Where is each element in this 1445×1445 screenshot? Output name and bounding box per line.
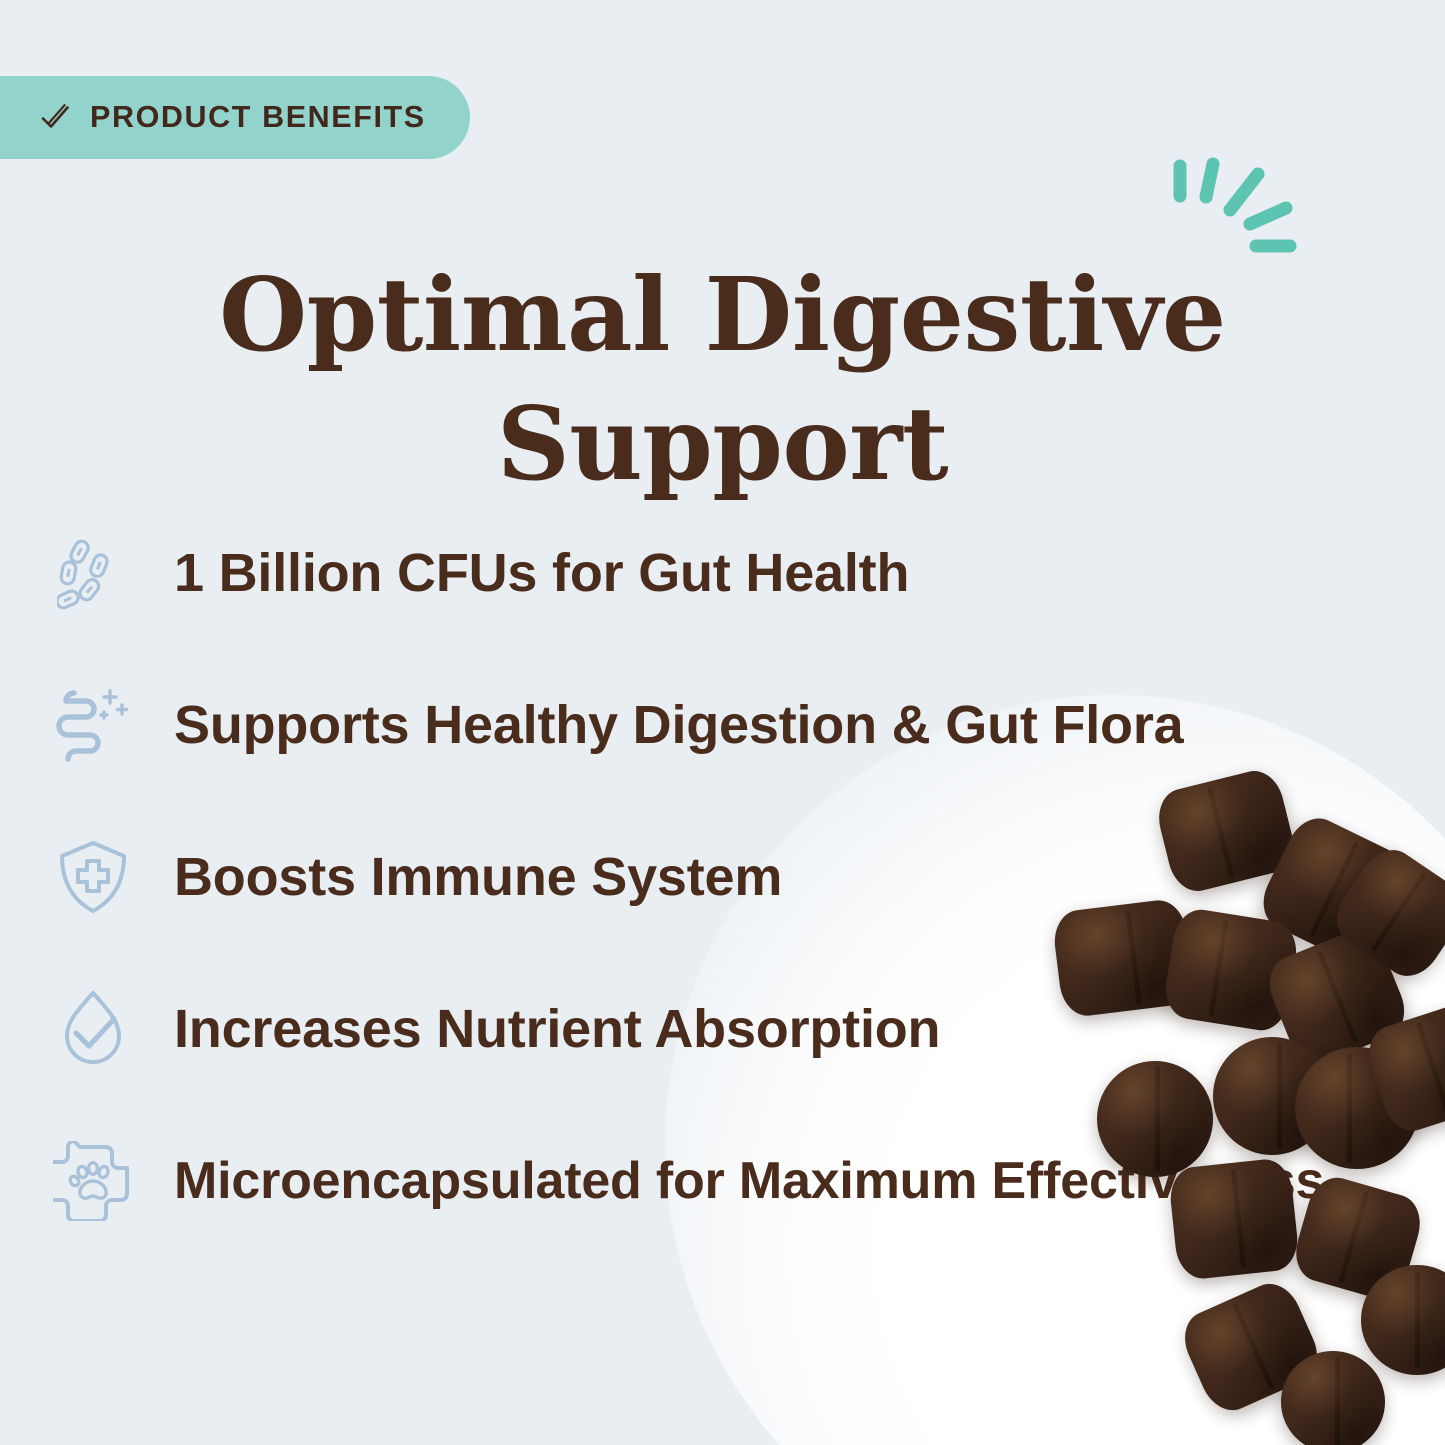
page-title-line-2: Support [110, 379, 1335, 508]
check-icon [38, 101, 72, 135]
benefit-label: 1 Billion CFUs for Gut Health [174, 542, 909, 604]
page-title-line-1: Optimal Digestive [110, 250, 1335, 379]
benefits-list: 1 Billion CFUs for Gut Health [52, 497, 1385, 1257]
benefit-item-digestion: Supports Healthy Digestion & Gut Flora [52, 649, 1385, 801]
page-title: Optimal Digestive Support [0, 250, 1445, 509]
benefit-item-microencapsulated: Microencapsulated for Maximum Effectiven… [52, 1105, 1385, 1257]
badge-label: PRODUCT BENEFITS [90, 100, 426, 135]
cross-paw-icon [52, 1140, 134, 1222]
benefit-item-immune: Boosts Immune System [52, 801, 1385, 953]
product-benefits-infographic: PRODUCT BENEFITS Optimal Digestive Suppo… [0, 0, 1445, 1445]
shield-cross-icon [52, 836, 134, 918]
droplet-check-icon [52, 988, 134, 1070]
intestine-sparkle-icon [52, 684, 134, 766]
benefit-item-cfu: 1 Billion CFUs for Gut Health [52, 497, 1385, 649]
sparkle-burst-icon [1168, 152, 1328, 287]
benefit-label: Microencapsulated for Maximum Effectiven… [174, 1151, 1324, 1211]
probiotic-bacteria-icon [52, 532, 134, 614]
product-benefits-badge: PRODUCT BENEFITS [0, 76, 470, 159]
benefit-item-absorption: Increases Nutrient Absorption [52, 953, 1385, 1105]
benefit-label: Boosts Immune System [174, 846, 782, 908]
benefit-label: Increases Nutrient Absorption [174, 998, 940, 1060]
benefit-label: Supports Healthy Digestion & Gut Flora [174, 694, 1183, 756]
